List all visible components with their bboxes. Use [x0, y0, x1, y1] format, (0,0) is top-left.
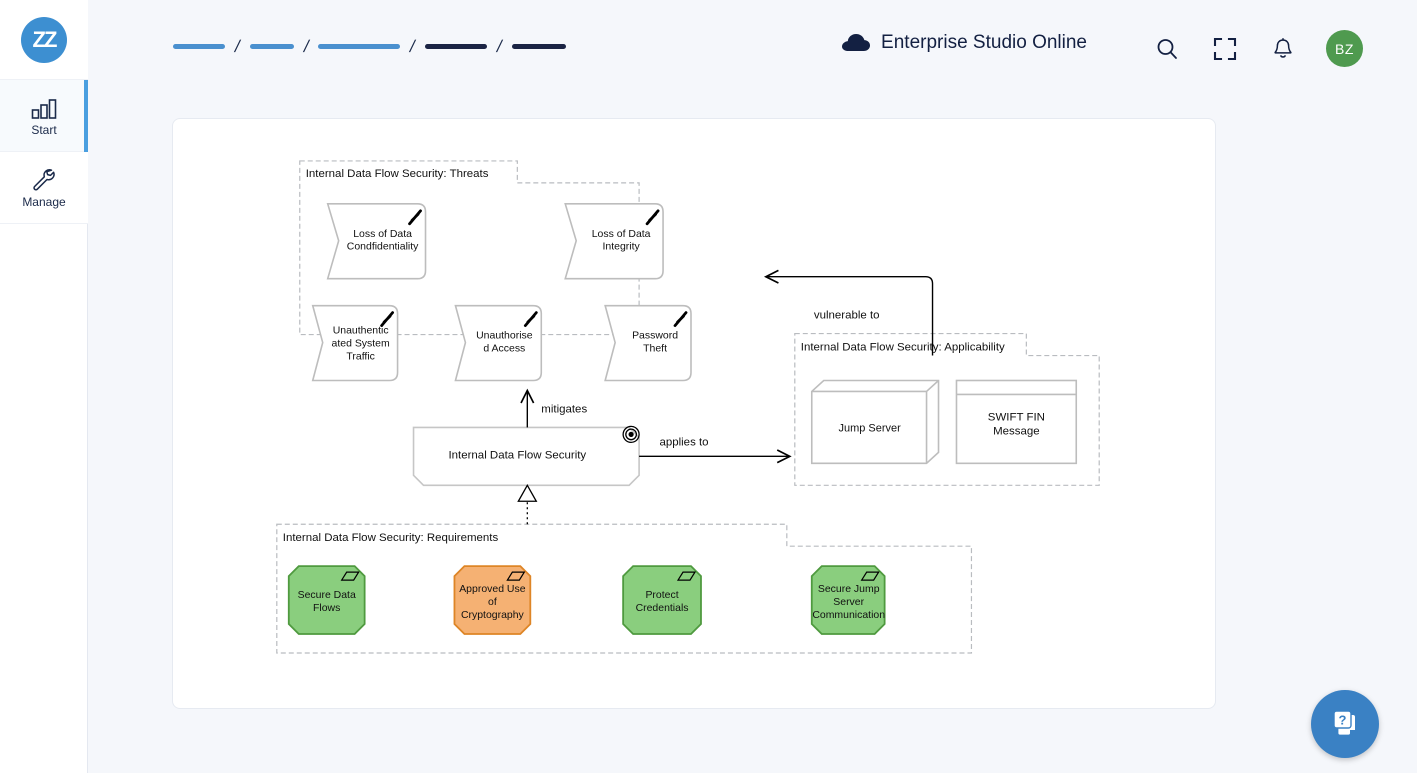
- requirement-label-line: of: [488, 597, 497, 608]
- fullscreen-icon[interactable]: [1210, 34, 1240, 64]
- sidebar-item-start[interactable]: Start: [0, 80, 88, 152]
- requirement-label-line: Cryptography: [461, 610, 525, 621]
- threat-node[interactable]: Password Theft: [605, 306, 691, 381]
- breadcrumb-separator: /: [495, 38, 503, 55]
- threat-label-line: Theft: [643, 344, 667, 355]
- node-swift-fin-message[interactable]: SWIFT FIN Message: [956, 380, 1076, 463]
- sidebar-item-label: Start: [31, 123, 56, 137]
- threat-label-line: Password: [632, 331, 678, 342]
- breadcrumb-separator: /: [409, 38, 417, 55]
- requirement-node[interactable]: Secure Jump Server Communication: [812, 566, 885, 634]
- group-applicability-label: Internal Data Flow Security: Applicabili…: [801, 342, 1005, 354]
- bullseye-icon: [623, 426, 639, 442]
- logo-text: ZZ: [33, 27, 56, 53]
- breadcrumb-separator: /: [233, 38, 241, 55]
- cloud-icon: [841, 33, 871, 53]
- relation-applies-to[interactable]: applies to: [639, 436, 790, 456]
- threat-label-line: ated System: [332, 339, 390, 350]
- brand-title-group: Enterprise Studio Online: [841, 32, 1087, 54]
- bell-icon[interactable]: [1268, 34, 1298, 64]
- svg-text:?: ?: [1339, 712, 1347, 727]
- threat-label-line: Loss of Data: [353, 229, 412, 240]
- wrench-icon: [31, 167, 57, 191]
- breadcrumb-item-4[interactable]: [425, 44, 487, 49]
- sidebar-item-manage[interactable]: Manage: [0, 152, 88, 224]
- node-label-line: Message: [993, 425, 1040, 437]
- node-label: Jump Server: [839, 422, 902, 434]
- help-cards-icon: ?: [1328, 705, 1362, 744]
- requirement-label-line: Credentials: [636, 603, 689, 614]
- sidebar-item-label: Manage: [22, 195, 65, 209]
- application-window: ZZ Start Manage /: [0, 0, 1417, 773]
- requirement-node[interactable]: Approved Use of Cryptography: [454, 566, 530, 634]
- breadcrumb-item-5[interactable]: [512, 44, 566, 49]
- node-jump-server[interactable]: Jump Server: [812, 380, 939, 463]
- relation-label: applies to: [659, 436, 708, 448]
- relation-mitigates[interactable]: mitigates: [527, 390, 587, 427]
- sidebar: ZZ Start Manage: [0, 0, 88, 773]
- breadcrumb: / / / /: [173, 38, 566, 55]
- requirement-label-line: Approved Use: [459, 584, 526, 595]
- help-widget-button[interactable]: ?: [1311, 690, 1379, 758]
- breadcrumb-item-1[interactable]: [173, 44, 225, 49]
- principle-internal-data-flow-security[interactable]: Internal Data Flow Security: [414, 426, 640, 485]
- threat-node[interactable]: Unauthorise d Access: [455, 306, 541, 381]
- logo-circle: ZZ: [21, 17, 67, 63]
- avatar-initials: BZ: [1335, 41, 1354, 57]
- threat-label-line: Condfidentiality: [347, 242, 419, 253]
- group-requirements-label: Internal Data Flow Security: Requirement…: [283, 532, 499, 544]
- group-threats-label: Internal Data Flow Security: Threats: [306, 168, 489, 180]
- relation-realization[interactable]: [518, 485, 536, 524]
- threat-node[interactable]: Loss of Data Condfidentiality: [328, 204, 426, 279]
- top-header: / / / / Enterprise Studio Online: [88, 0, 1417, 96]
- requirement-label-line: Communication: [812, 610, 885, 621]
- node-label-line: SWIFT FIN: [988, 411, 1045, 423]
- requirement-label-line: Flows: [313, 603, 340, 614]
- threat-node[interactable]: Loss of Data Integrity: [565, 204, 663, 279]
- breadcrumb-item-2[interactable]: [250, 44, 294, 49]
- search-icon[interactable]: [1152, 34, 1182, 64]
- breadcrumb-item-3[interactable]: [318, 44, 400, 49]
- principle-label: Internal Data Flow Security: [448, 449, 586, 461]
- threat-label-line: Integrity: [603, 242, 641, 253]
- app-logo[interactable]: ZZ: [0, 0, 88, 80]
- requirement-label-line: Server: [833, 597, 864, 608]
- threat-label-line: Loss of Data: [592, 229, 651, 240]
- threat-label-line: Unauthentic: [333, 326, 389, 337]
- threat-label-line: Traffic: [346, 352, 375, 363]
- threat-label-line: Unauthorise: [476, 331, 533, 342]
- avatar[interactable]: BZ: [1326, 30, 1363, 67]
- requirement-node[interactable]: Secure Data Flows: [289, 566, 365, 634]
- requirement-label-line: Secure Jump: [818, 584, 880, 595]
- requirement-label-line: Protect: [645, 590, 678, 601]
- threat-node[interactable]: Unauthentic ated System Traffic: [313, 306, 398, 381]
- threat-label-line: d Access: [483, 344, 525, 355]
- header-actions: BZ: [1152, 30, 1363, 67]
- requirement-label-line: Secure Data: [298, 590, 356, 601]
- relation-label: vulnerable to: [814, 310, 880, 322]
- archimate-diagram[interactable]: Internal Data Flow Security: Threats Los…: [173, 119, 1215, 709]
- bar-chart-icon: [31, 95, 57, 119]
- realization-triangle: [518, 485, 536, 501]
- relation-label: mitigates: [541, 403, 587, 415]
- diagram-canvas-card[interactable]: Internal Data Flow Security: Threats Los…: [172, 118, 1216, 709]
- requirement-node[interactable]: Protect Credentials: [623, 566, 701, 634]
- breadcrumb-separator: /: [302, 38, 310, 55]
- brand-title: Enterprise Studio Online: [881, 32, 1087, 54]
